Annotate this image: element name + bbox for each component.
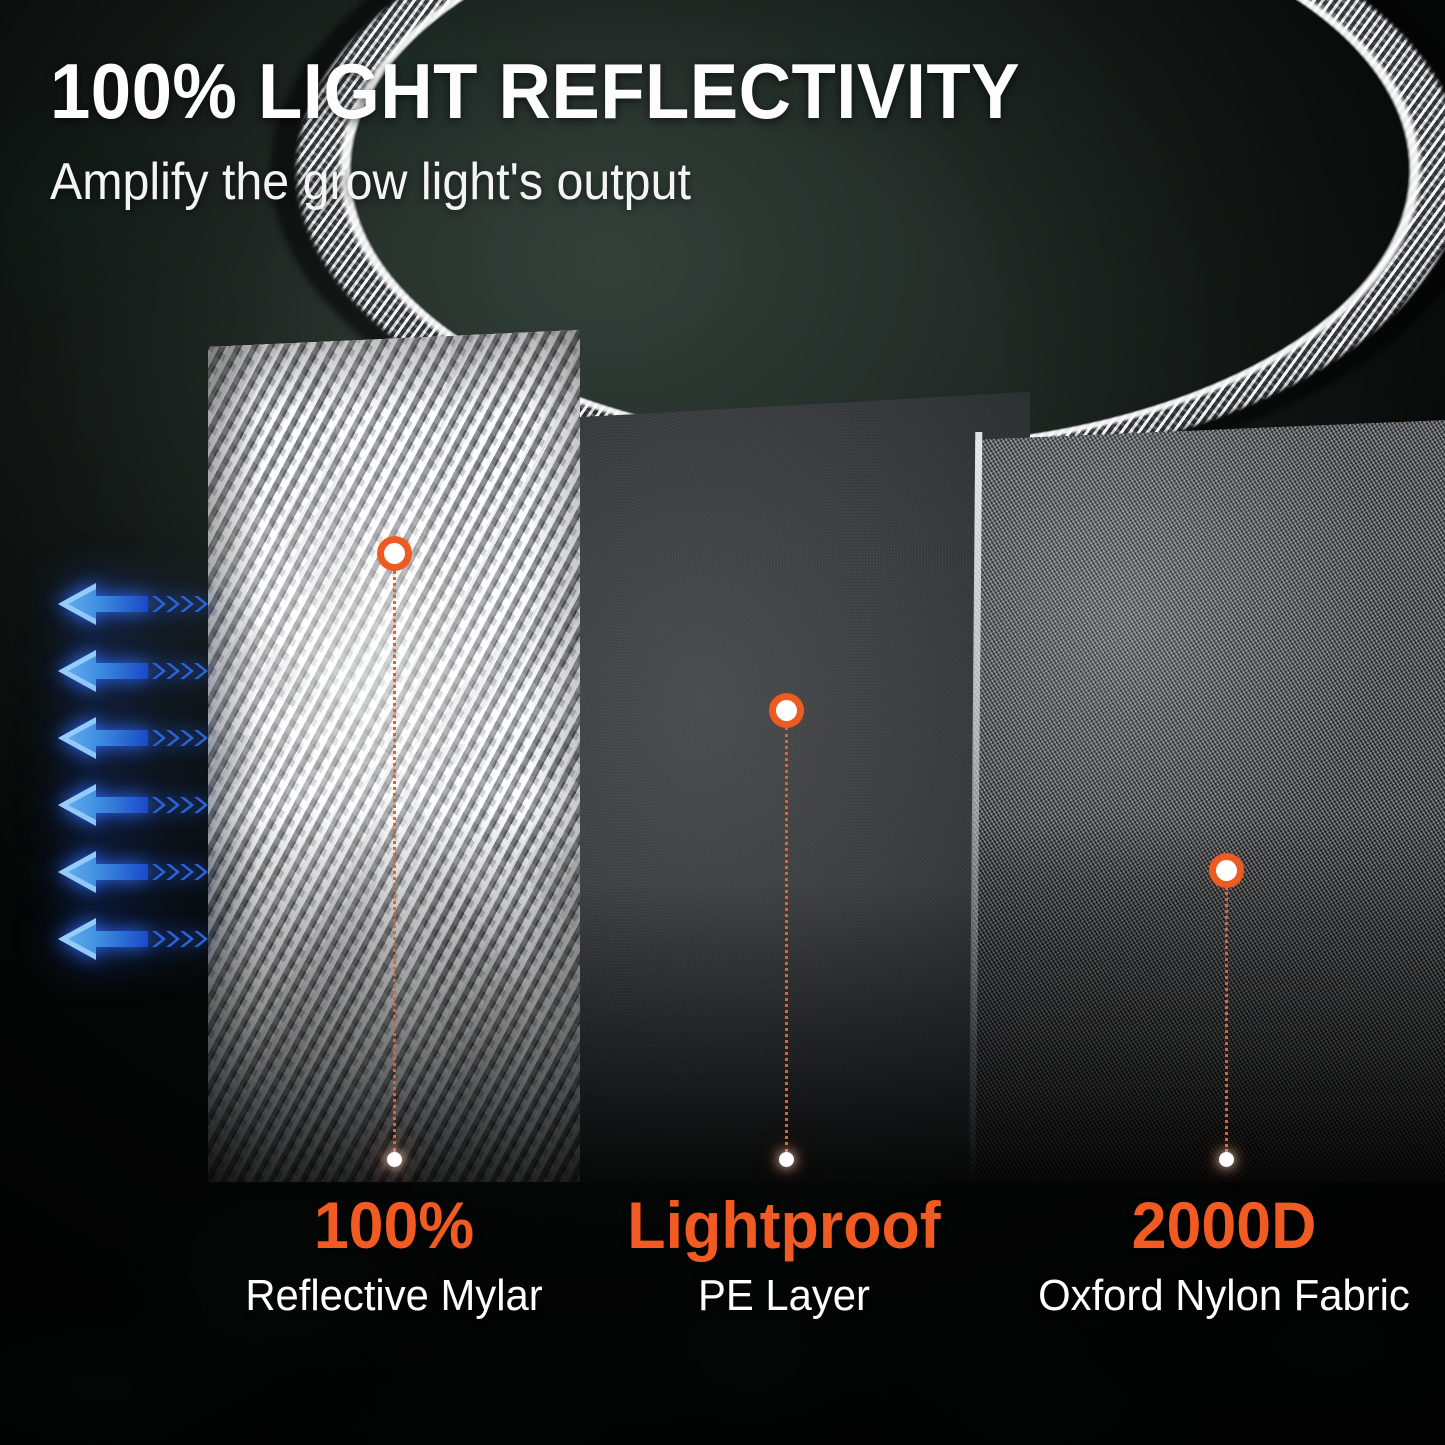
label-pe-caption: PE Layer bbox=[604, 1274, 965, 1318]
callout-endpoint-oxford bbox=[1219, 1152, 1234, 1167]
reflected-light-arrows bbox=[56, 578, 216, 976]
product-feature-graphic: 100% LIGHT REFLECTIVITY Amplify the grow… bbox=[0, 0, 1445, 1445]
page-title: 100% LIGHT REFLECTIVITY bbox=[50, 52, 980, 130]
callout-endpoint-pe bbox=[779, 1152, 794, 1167]
label-oxford-headline: 2000D bbox=[1025, 1192, 1424, 1258]
pe-layer-shading bbox=[560, 392, 1030, 1182]
arrow-left-glow-icon bbox=[56, 712, 208, 764]
callout-dot-mylar bbox=[384, 543, 405, 564]
pe-layer-panel bbox=[560, 392, 1030, 1182]
label-oxford: 2000D Oxford Nylon Fabric bbox=[1014, 1192, 1434, 1318]
arrow-left-glow-icon bbox=[56, 578, 208, 630]
layer-labels: 100% Reflective Mylar Lightproof PE Laye… bbox=[0, 1192, 1445, 1332]
callout-line-pe bbox=[785, 727, 788, 1152]
oxford-fabric-panel bbox=[972, 420, 1445, 1182]
arrow-left-glow-icon bbox=[56, 846, 208, 898]
callout-line-mylar bbox=[393, 570, 396, 1152]
label-pe-headline: Lightproof bbox=[604, 1192, 965, 1258]
label-oxford-caption: Oxford Nylon Fabric bbox=[1025, 1274, 1424, 1318]
label-pe: Lightproof PE Layer bbox=[594, 1192, 974, 1318]
arrow-left-glow-icon bbox=[56, 645, 208, 697]
arrow-left-glow-icon bbox=[56, 913, 208, 965]
arrow-left-glow-icon bbox=[56, 779, 208, 831]
callout-endpoint-mylar bbox=[387, 1152, 402, 1167]
header-block: 100% LIGHT REFLECTIVITY Amplify the grow… bbox=[50, 52, 1050, 208]
callout-line-oxford bbox=[1225, 887, 1228, 1152]
label-mylar-caption: Reflective Mylar bbox=[214, 1274, 575, 1318]
oxford-shading bbox=[972, 420, 1445, 1182]
label-mylar: 100% Reflective Mylar bbox=[204, 1192, 584, 1318]
label-mylar-headline: 100% bbox=[214, 1192, 575, 1258]
callout-dot-oxford bbox=[1216, 860, 1237, 881]
page-subtitle: Amplify the grow light's output bbox=[50, 156, 980, 208]
callout-dot-pe bbox=[776, 700, 797, 721]
